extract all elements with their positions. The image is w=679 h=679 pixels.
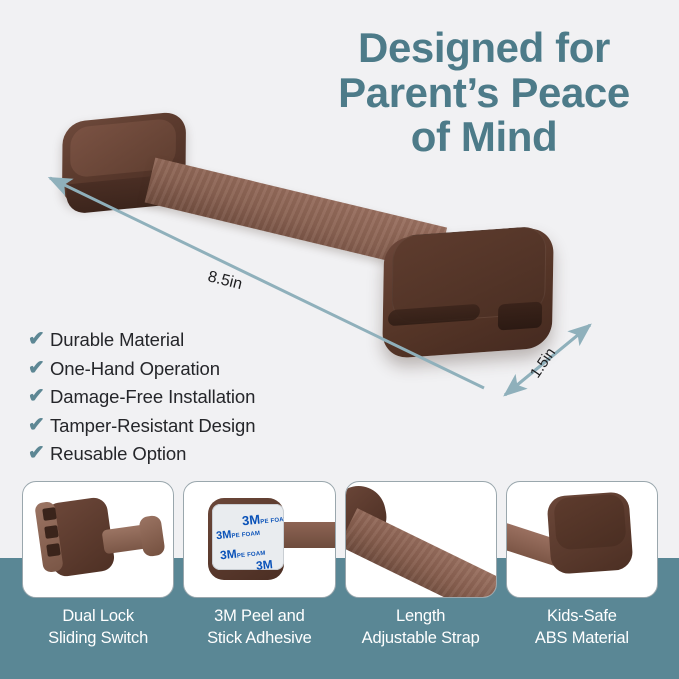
adhesive-pad-illustration: 3MPE FOAM 3MPE FOAM 3MPE FOAM 3M: [184, 482, 334, 597]
feature-item-damage-free-installation: ✔ Damage-Free Installation: [28, 383, 358, 412]
check-icon: ✔: [28, 386, 50, 406]
feature-label: Durable Material: [50, 329, 184, 351]
title-line-1: Designed for: [300, 26, 668, 71]
adjustable-strap-illustration: [346, 482, 496, 597]
caption-line-1: Kids-Safe: [506, 606, 658, 628]
feature-card-dual-lock-sliding-switch[interactable]: [22, 481, 174, 598]
caption-adjustable-strap: Length Adjustable Strap: [345, 606, 497, 666]
caption-3m-adhesive: 3M Peel and Stick Adhesive: [183, 606, 335, 666]
brand-3m: 3M: [220, 547, 238, 563]
brand-3m: 3M: [216, 529, 232, 543]
feature-list: ✔ Durable Material ✔ One-Hand Operation …: [28, 326, 358, 469]
feature-item-durable-material: ✔ Durable Material: [28, 326, 358, 355]
caption-line-2: Sliding Switch: [22, 628, 174, 650]
check-icon: ✔: [28, 443, 50, 463]
caption-abs-material: Kids-Safe ABS Material: [506, 606, 658, 666]
feature-card-3m-adhesive[interactable]: 3MPE FOAM 3MPE FOAM 3MPE FOAM 3M: [183, 481, 335, 598]
feature-caption-row: Dual Lock Sliding Switch 3M Peel and Sti…: [22, 606, 658, 666]
caption-dual-lock-sliding-switch: Dual Lock Sliding Switch: [22, 606, 174, 666]
feature-item-reusable-option: ✔ Reusable Option: [28, 440, 358, 469]
infographic-page: Designed for Parent’s Peace of Mind 8.5i…: [0, 0, 679, 679]
3m-foam-pad: 3MPE FOAM 3MPE FOAM 3MPE FOAM 3M: [212, 504, 284, 570]
caption-line-2: Stick Adhesive: [183, 628, 335, 650]
feature-label: Reusable Option: [50, 443, 186, 465]
feature-label: Tamper-Resistant Design: [50, 415, 255, 437]
abs-lock-illustration: [507, 482, 657, 597]
brand-pe-foam: PE FOAM: [232, 531, 261, 540]
check-icon: ✔: [28, 415, 50, 435]
feature-item-one-hand-operation: ✔ One-Hand Operation: [28, 355, 358, 384]
feature-item-tamper-resistant-design: ✔ Tamper-Resistant Design: [28, 412, 358, 441]
caption-line-1: 3M Peel and: [183, 606, 335, 628]
feature-card-row: 3MPE FOAM 3MPE FOAM 3MPE FOAM 3M: [22, 481, 658, 598]
feature-label: One-Hand Operation: [50, 358, 220, 380]
feature-card-abs-material[interactable]: [506, 481, 658, 598]
feature-label: Damage-Free Installation: [50, 386, 255, 408]
brand-pe-foam: PE FOAM: [260, 517, 284, 526]
caption-line-2: ABS Material: [506, 628, 658, 650]
brand-3m: 3M: [256, 557, 274, 570]
check-icon: ✔: [28, 329, 50, 349]
lock-strap-slot: [498, 301, 542, 330]
feature-card-adjustable-strap[interactable]: [345, 481, 497, 598]
brand-3m: 3M: [242, 512, 262, 529]
caption-line-1: Dual Lock: [22, 606, 174, 628]
check-icon: ✔: [28, 358, 50, 378]
dual-lock-switch-illustration: [23, 482, 173, 597]
caption-line-2: Adjustable Strap: [345, 628, 497, 650]
caption-line-1: Length: [345, 606, 497, 628]
